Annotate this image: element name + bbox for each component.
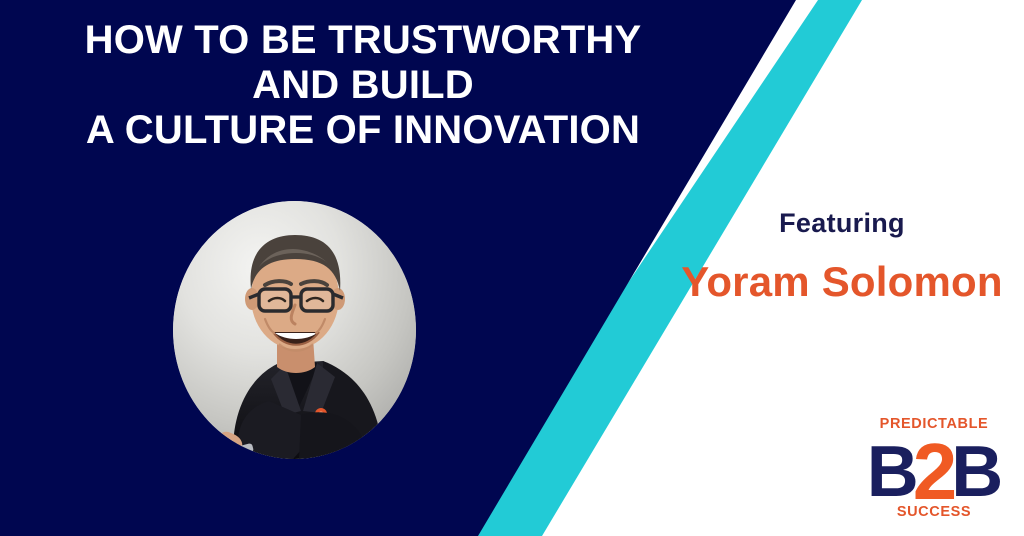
promo-banner: HOW TO BE TRUSTWORTHY AND BUILD A CULTUR… [0, 0, 1024, 536]
title-line-1: HOW TO BE TRUSTWORTHY [0, 18, 726, 63]
logo-wordmark: B2B [866, 432, 1002, 506]
logo-letter-b-right: B [951, 432, 1001, 512]
logo-digit-two: 2 [913, 427, 956, 516]
title-line-2: AND BUILD [0, 63, 726, 108]
logo-letter-b-left: B [867, 432, 917, 512]
featuring-label: Featuring [660, 208, 1024, 239]
title-line-3: A CULTURE OF INNOVATION [0, 108, 726, 153]
page-title: HOW TO BE TRUSTWORTHY AND BUILD A CULTUR… [0, 18, 726, 153]
b2b-success-logo: PREDICTABLE B2B SUCCESS [866, 416, 1002, 532]
logo-bottom-text: SUCCESS [866, 504, 1002, 520]
speaker-name: Yoram Solomon [660, 258, 1024, 306]
speaker-portrait-illustration [173, 201, 416, 459]
speaker-portrait [173, 201, 416, 459]
